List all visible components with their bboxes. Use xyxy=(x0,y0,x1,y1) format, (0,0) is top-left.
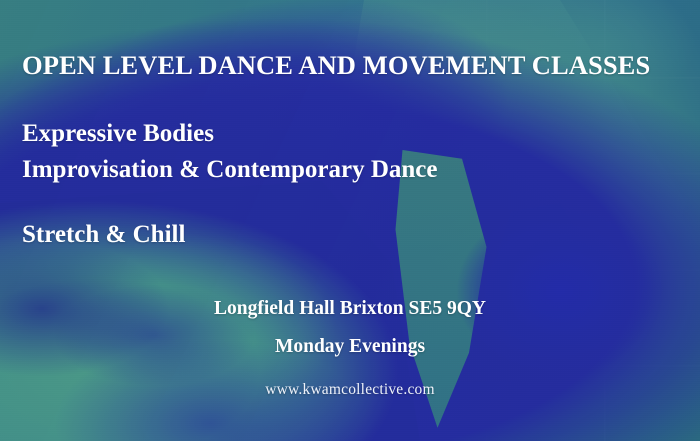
poster-title: OPEN LEVEL DANCE AND MOVEMENT CLASSES xyxy=(22,52,682,80)
poster-content: OPEN LEVEL DANCE AND MOVEMENT CLASSES Ex… xyxy=(0,0,700,441)
venue-details: Longfield Hall Brixton SE5 9QY Monday Ev… xyxy=(0,290,700,366)
class-list: Expressive Bodies Improvisation & Contem… xyxy=(22,116,437,187)
venue-schedule: Monday Evenings xyxy=(0,328,700,366)
venue-address: Longfield Hall Brixton SE5 9QY xyxy=(0,290,700,328)
class-name-stretch-and-chill: Stretch & Chill xyxy=(22,221,185,249)
website-url[interactable]: www.kwamcollective.com xyxy=(0,381,700,399)
dance-class-poster: OPEN LEVEL DANCE AND MOVEMENT CLASSES Ex… xyxy=(0,0,700,441)
class-name-improvisation-contemporary: Improvisation & Contemporary Dance xyxy=(22,152,437,188)
class-name-expressive-bodies: Expressive Bodies xyxy=(22,116,437,152)
